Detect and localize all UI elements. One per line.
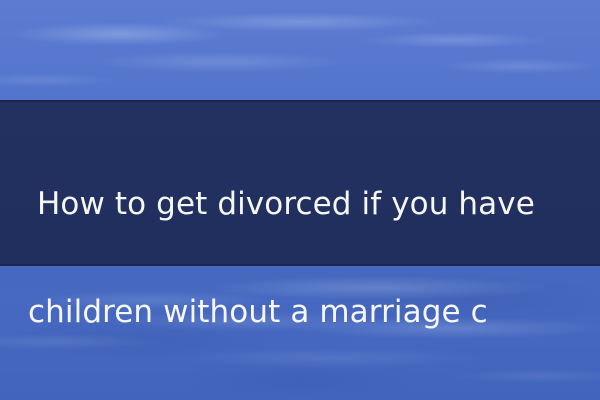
caption-overlay-band: How to get divorced if you have children… <box>0 100 600 266</box>
caption-line-1: How to get divorced if you have <box>0 186 600 222</box>
cloud-wisps-upper <box>0 0 600 105</box>
caption-text-block: How to get divorced if you have children… <box>0 114 600 400</box>
caption-line-2: children without a marriage c <box>0 294 600 330</box>
image-card: How to get divorced if you have children… <box>0 0 600 400</box>
band-top-edge <box>0 100 600 102</box>
band-bottom-edge <box>0 264 600 266</box>
